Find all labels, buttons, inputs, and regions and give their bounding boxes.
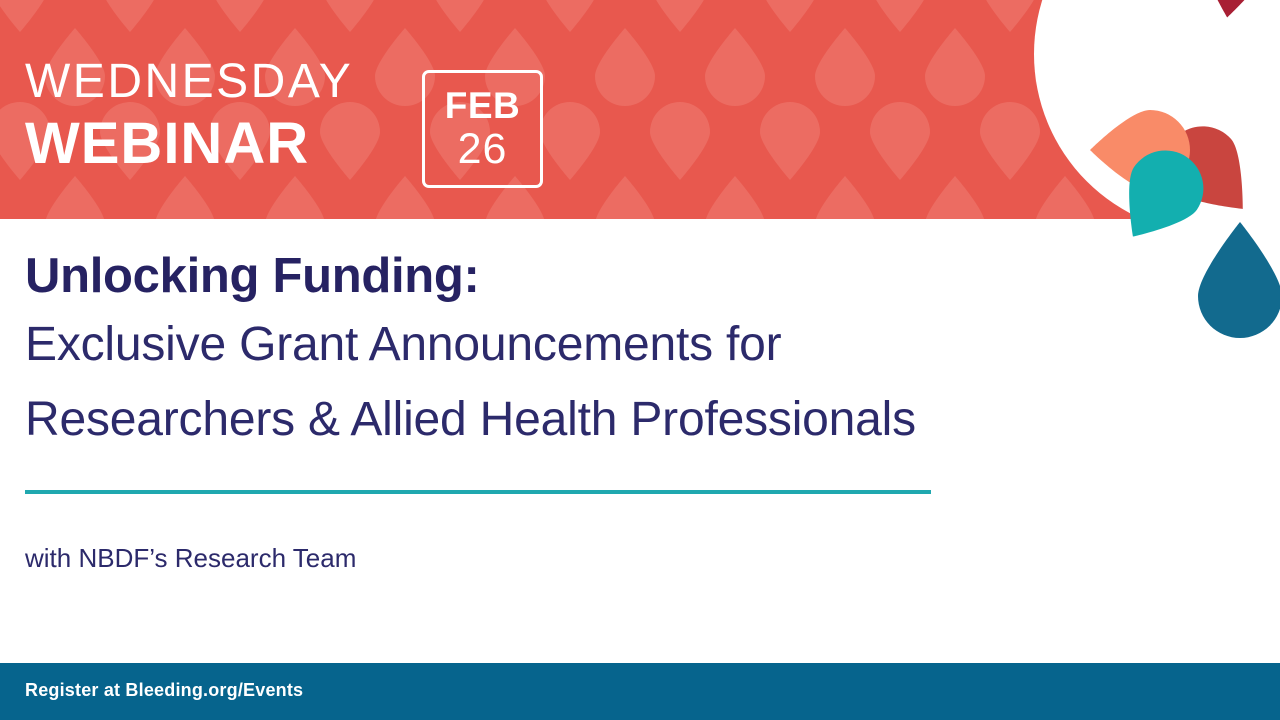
date-day-label: 26: [458, 128, 508, 171]
page-subtitle-line-2: Researchers & Allied Health Professional…: [25, 385, 1240, 455]
banner-heading-group: WEDNESDAY WEBINAR: [25, 58, 445, 175]
page-title: Unlocking Funding:: [25, 249, 1240, 304]
presenter-label: with NBDF’s Research Team: [25, 543, 356, 574]
footer-bar: Register at Bleeding.org/Events: [0, 663, 1280, 720]
banner-day-label: WEDNESDAY: [25, 58, 445, 106]
title-divider-rule: [25, 490, 931, 494]
register-cta-text[interactable]: Register at Bleeding.org/Events: [25, 680, 303, 701]
droplet-crimson: [1188, 0, 1280, 23]
title-block: Unlocking Funding: Exclusive Grant Annou…: [25, 249, 1240, 455]
webinar-promo-slide: WEDNESDAY WEBINAR FEB 26 Un: [0, 0, 1280, 720]
date-badge: FEB 26: [422, 70, 543, 188]
banner-type-label: WEBINAR: [25, 114, 445, 175]
page-subtitle-line-1: Exclusive Grant Announcements for: [25, 310, 1240, 380]
date-month-label: FEB: [445, 87, 521, 124]
